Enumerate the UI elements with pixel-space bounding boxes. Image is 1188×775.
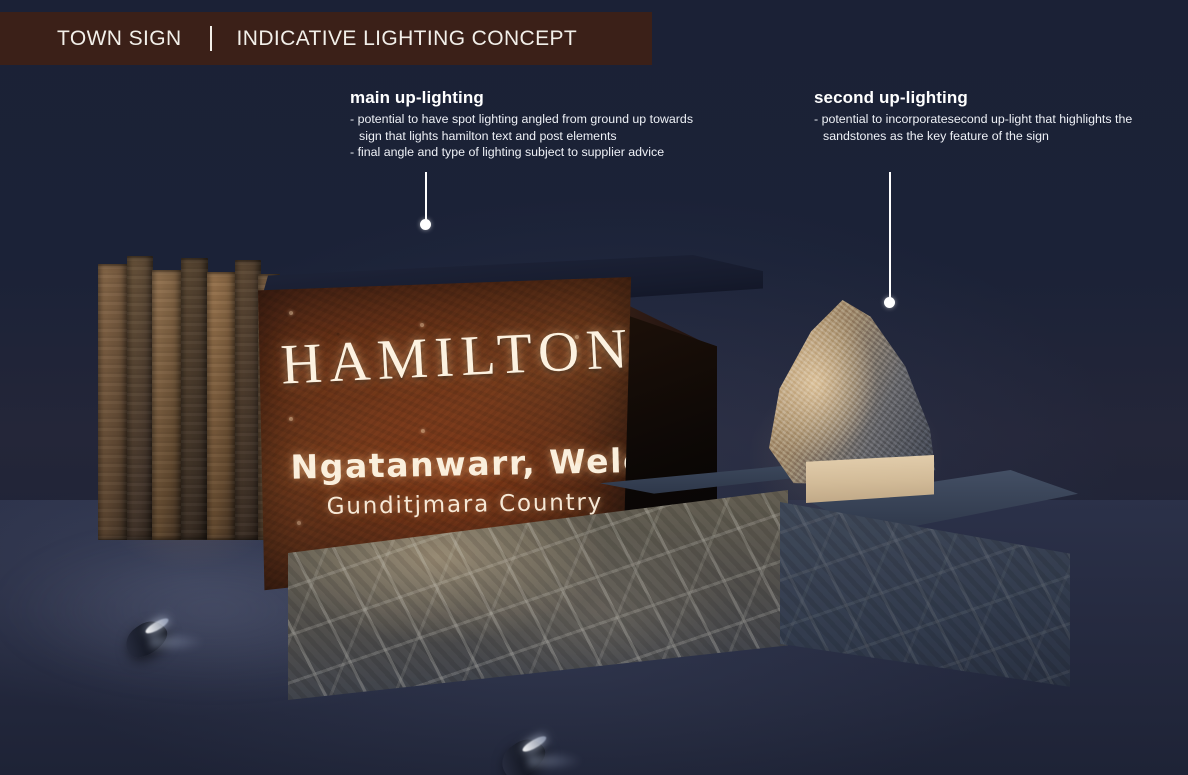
stone-wall-front xyxy=(288,490,788,700)
stone-plinth xyxy=(288,440,1078,740)
annotation-line: sandstones as the key feature of the sig… xyxy=(814,128,1132,145)
banner-divider xyxy=(210,26,212,51)
timber-post xyxy=(181,258,208,540)
fixture-beam xyxy=(150,633,202,651)
banner-secondary-label: INDICATIVE LIGHTING CONCEPT xyxy=(237,27,578,51)
sign-rivet xyxy=(575,335,579,339)
banner-primary-label: TOWN SIGN xyxy=(57,27,182,51)
sign-rivet xyxy=(421,429,425,433)
title-banner: TOWN SIGN INDICATIVE LIGHTING CONCEPT xyxy=(0,12,652,65)
sign-rivet xyxy=(420,323,424,327)
uplight-fixture xyxy=(124,624,168,654)
timber-post xyxy=(98,264,128,540)
annotation-line-continuation: sandstones as the key feature of the sig… xyxy=(814,128,1132,145)
timber-post xyxy=(127,256,153,540)
sign-title: HAMILTON xyxy=(279,318,602,398)
leader-line-second xyxy=(889,172,891,303)
sign-rivet xyxy=(289,417,293,421)
stone-wall-side xyxy=(780,502,1070,717)
annotation-title: second up-lighting xyxy=(814,88,1132,108)
annotation-line: - potential to have spot lighting angled… xyxy=(350,111,693,128)
sign-rivet xyxy=(289,311,293,315)
leader-dot-main xyxy=(420,219,431,230)
leader-line-main xyxy=(425,172,427,225)
timber-post xyxy=(207,272,236,540)
timber-post xyxy=(152,270,182,540)
stone-grain xyxy=(288,490,788,700)
annotation-main-up-lighting: main up-lighting - potential to have spo… xyxy=(350,88,693,161)
annotation-line: - final angle and type of lighting subje… xyxy=(350,144,693,161)
annotation-line-continuation: sign that lights hamilton text and post … xyxy=(350,128,693,145)
annotation-line: sign that lights hamilton text and post … xyxy=(350,128,693,145)
uplight-fixture xyxy=(500,742,546,774)
stone-grain xyxy=(780,502,1070,717)
annotation-line: - potential to incorporatesecond up-ligh… xyxy=(814,111,1132,128)
fixture-beam xyxy=(528,752,580,770)
annotation-title: main up-lighting xyxy=(350,88,693,108)
annotation-second-up-lighting: second up-lighting - potential to incorp… xyxy=(814,88,1132,144)
leader-dot-second xyxy=(884,297,895,308)
timber-post-group xyxy=(98,252,280,540)
